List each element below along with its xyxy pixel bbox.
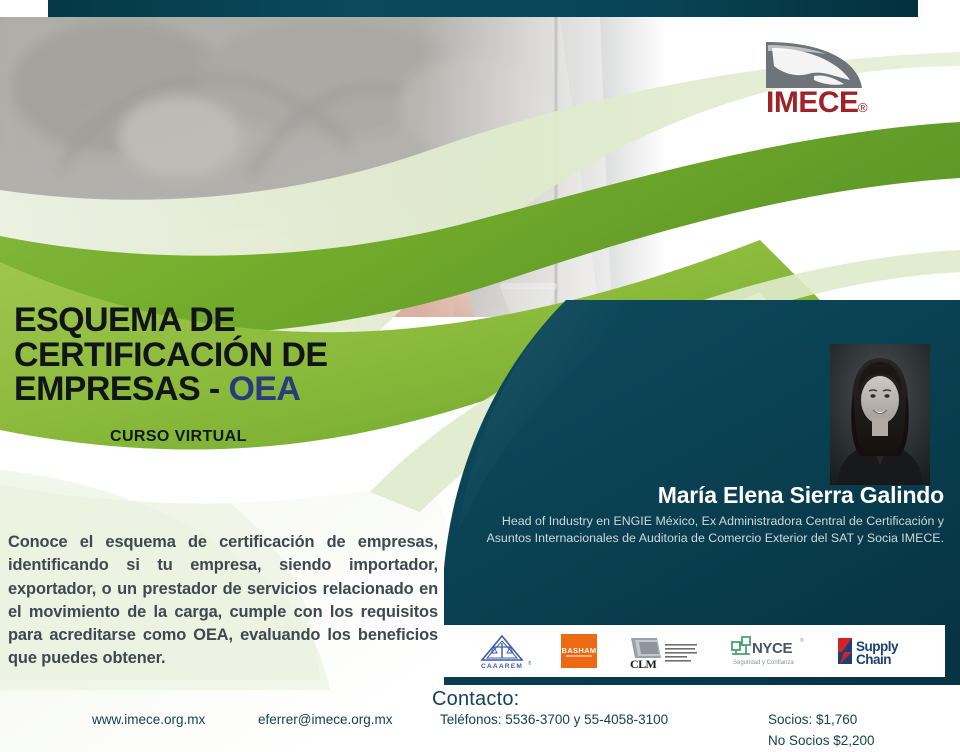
page-title: ESQUEMA DE CERTIFICACIÓN DE EMPRESAS - O…: [14, 303, 444, 407]
globe-icon: [766, 42, 862, 88]
speaker-bio: Head of Industry en ENGIE México, Ex Adm…: [474, 513, 944, 546]
basham-wordmark: BASHAM: [561, 646, 596, 655]
caaarem-wordmark: CAAAREM: [480, 663, 522, 670]
nyce-logo: NYCE ® Seguridad y Confianza: [729, 631, 807, 671]
website-link[interactable]: www.imece.org.mx: [92, 712, 205, 727]
title-line-3: EMPRESAS - OEA: [14, 372, 444, 407]
clm-wordmark: CLM: [630, 657, 656, 670]
flyer-canvas: IMECE ® ESQUEMA DE CERTIFICACIÓN DE EMPR…: [0, 0, 960, 752]
email-link[interactable]: eferrer@imece.org.mx: [258, 712, 393, 727]
page-subtitle: CURSO VIRTUAL: [110, 428, 247, 446]
basham-logo: BASHAM: [559, 631, 599, 671]
registered-mark-icon: ®: [528, 660, 531, 667]
nyce-wordmark: NYCE: [752, 640, 792, 657]
title-line-1: ESQUEMA DE: [14, 303, 444, 338]
chain-word: Chain: [856, 652, 891, 667]
caaarem-logo: CAAAREM ®: [473, 631, 531, 671]
footer-row: www.imece.org.mx eferrer@imece.org.mx Te…: [0, 710, 960, 752]
title-accent-oea: OEA: [228, 370, 300, 408]
title-line-2: CERTIFICACIÓN DE: [14, 338, 444, 373]
description-text: Conoce el esquema de certificación de em…: [8, 531, 438, 671]
sponsor-logo-strip: CAAAREM ® BASHAM CLM: [440, 625, 945, 677]
registered-mark-icon: ®: [800, 637, 804, 644]
supply-chain-logo: Supply Chain: [835, 631, 913, 671]
speaker-portrait: [830, 344, 930, 485]
speaker-name: María Elena Sierra Galindo: [424, 482, 944, 509]
title-line-3-main: EMPRESAS -: [14, 370, 228, 408]
clm-logo: CLM: [627, 631, 701, 671]
registered-mark-icon: ®: [858, 100, 868, 114]
description-block: Conoce el esquema de certificación de em…: [8, 531, 438, 671]
price-non-members: No Socios $2,200: [768, 733, 875, 748]
imece-logo: IMECE ®: [762, 36, 882, 114]
price-members: Socios: $1,760: [768, 712, 857, 727]
contact-label: Contacto:: [432, 688, 519, 711]
nyce-tagline: Seguridad y Confianza: [733, 660, 794, 666]
phone-numbers: Teléfonos: 5536-3700 y 55-4058-3100: [440, 712, 668, 727]
imece-wordmark: IMECE: [766, 86, 859, 114]
